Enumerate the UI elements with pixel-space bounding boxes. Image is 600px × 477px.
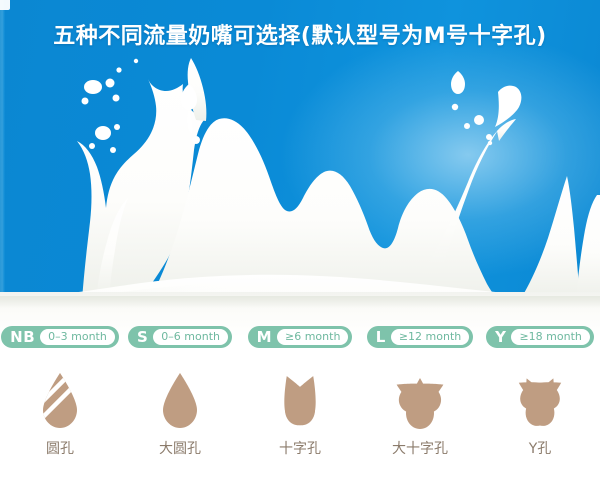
badge-age-label: ≥12 month <box>391 329 469 345</box>
droplet <box>95 126 111 140</box>
droplet <box>114 124 120 130</box>
nipple-card-y[interactable]: Y ≥18 month Y孔 <box>480 326 600 466</box>
status-badge: S 0–6 month <box>128 326 232 348</box>
droplet <box>113 95 120 102</box>
badge-size-label: S <box>128 326 153 348</box>
badge-size-label: M <box>248 326 277 348</box>
hero-banner: 五种不同流量奶嘴可选择(默认型号为M号十字孔) <box>0 0 600 298</box>
one-drop-icon <box>130 370 230 432</box>
nipple-card-l[interactable]: L ≥12 month 大十字孔 <box>360 326 480 466</box>
droplet <box>82 98 89 105</box>
hole-type-label: 十字孔 <box>279 440 321 458</box>
splash-right-peak <box>520 176 580 298</box>
three-drop-icon <box>370 370 470 432</box>
badge-size-label: Y <box>486 326 511 348</box>
droplet-teardrop-large <box>495 86 521 127</box>
droplet <box>110 147 116 153</box>
droplet <box>106 79 115 88</box>
nipple-card-s[interactable]: S 0–6 month 大圆孔 <box>120 326 240 466</box>
hole-type-label: 大圆孔 <box>159 440 201 458</box>
droplet <box>134 59 138 63</box>
splash-far-right-spike <box>576 195 600 298</box>
hero-corner-notch <box>0 0 10 10</box>
hole-type-label: 圆孔 <box>46 440 74 458</box>
status-badge: M ≥6 month <box>248 326 353 348</box>
droplet <box>89 143 95 149</box>
hole-type-label: 大十字孔 <box>392 440 448 458</box>
four-drop-icon <box>490 370 590 432</box>
one-drop-striped-icon <box>10 370 110 432</box>
droplet <box>488 141 492 145</box>
badge-size-label: L <box>367 326 391 348</box>
nipple-card-nb[interactable]: NB 0–3 month <box>0 326 120 466</box>
badge-age-label: ≥18 month <box>511 329 589 345</box>
droplet <box>84 80 102 94</box>
badge-size-label: NB <box>1 326 40 348</box>
splash-center-crown <box>150 118 503 298</box>
badge-age-label: 0–3 month <box>40 329 115 345</box>
status-badge: L ≥12 month <box>367 326 473 348</box>
droplet <box>452 104 458 110</box>
droplet <box>464 123 470 129</box>
droplet <box>116 67 121 72</box>
droplet <box>192 136 200 144</box>
badge-age-label: ≥6 month <box>277 329 348 345</box>
droplet-teardrop <box>451 71 465 94</box>
hole-type-label: Y孔 <box>529 440 552 458</box>
splash-droplets <box>82 59 522 153</box>
nipple-type-grid: NB 0–3 month <box>0 326 600 466</box>
status-badge: Y ≥18 month <box>486 326 594 348</box>
droplet <box>474 115 484 125</box>
promo-page: 五种不同流量奶嘴可选择(默认型号为M号十字孔) NB 0–3 month <box>0 0 600 477</box>
nipple-card-m[interactable]: M ≥6 month 十字孔 <box>240 326 360 466</box>
droplet <box>486 134 492 140</box>
status-badge: NB 0–3 month <box>1 326 119 348</box>
two-drop-icon <box>250 370 350 432</box>
page-title: 五种不同流量奶嘴可选择(默认型号为M号十字孔) <box>0 22 600 52</box>
badge-age-label: 0–6 month <box>153 329 228 345</box>
milk-surface-sheen <box>0 296 600 308</box>
